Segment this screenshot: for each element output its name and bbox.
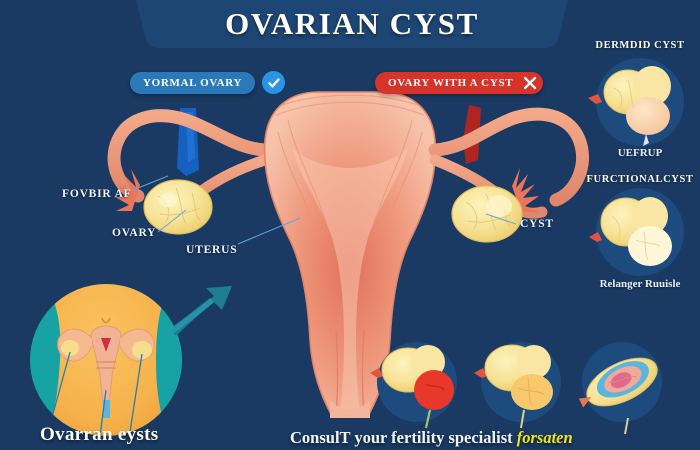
dermoid-cyst-caption: UEFRUP xyxy=(580,147,700,159)
bottom-caption-highlight: forsaten xyxy=(517,428,573,447)
bottom-circles-illustrations xyxy=(0,0,700,450)
badge-normal-label: YORMAL OVARY xyxy=(130,72,255,94)
label-cyst: CYST xyxy=(520,218,554,230)
inset-caption: Ovarran eysts xyxy=(40,424,158,446)
dermoid-cyst-title: DERMDID CYST xyxy=(580,40,700,51)
badge-ovary-with-cyst[interactable]: OVARY WITH A CYST xyxy=(375,71,541,94)
bottom-circle-functional xyxy=(474,342,561,428)
bottom-circle-cross-section xyxy=(572,342,664,434)
bottom-caption-text: ConsulT your fertility specialist xyxy=(290,428,517,447)
label-ovary: OVARY xyxy=(112,227,156,239)
badge-normal-ovary[interactable]: YORMAL OVARY xyxy=(130,71,285,94)
check-icon xyxy=(262,71,285,94)
bottom-circle-hemorrhagic xyxy=(370,342,457,428)
infographic-poster: OVARIAN CYST YORMAL OVARY OVARY WITH A C… xyxy=(0,0,700,450)
label-follicle: FOVBIR AF xyxy=(62,188,132,200)
bottom-caption: ConsulT your fertility specialist forsat… xyxy=(290,428,573,448)
page-title: OVARIAN CYST xyxy=(225,6,479,42)
functional-cyst-caption: Relanger Ruuisle xyxy=(578,278,700,290)
label-uterus: UTERUS xyxy=(186,244,237,256)
title-banner: OVARIAN CYST xyxy=(152,0,552,48)
functional-cyst-title: FURCTIONALCYST xyxy=(578,174,700,185)
